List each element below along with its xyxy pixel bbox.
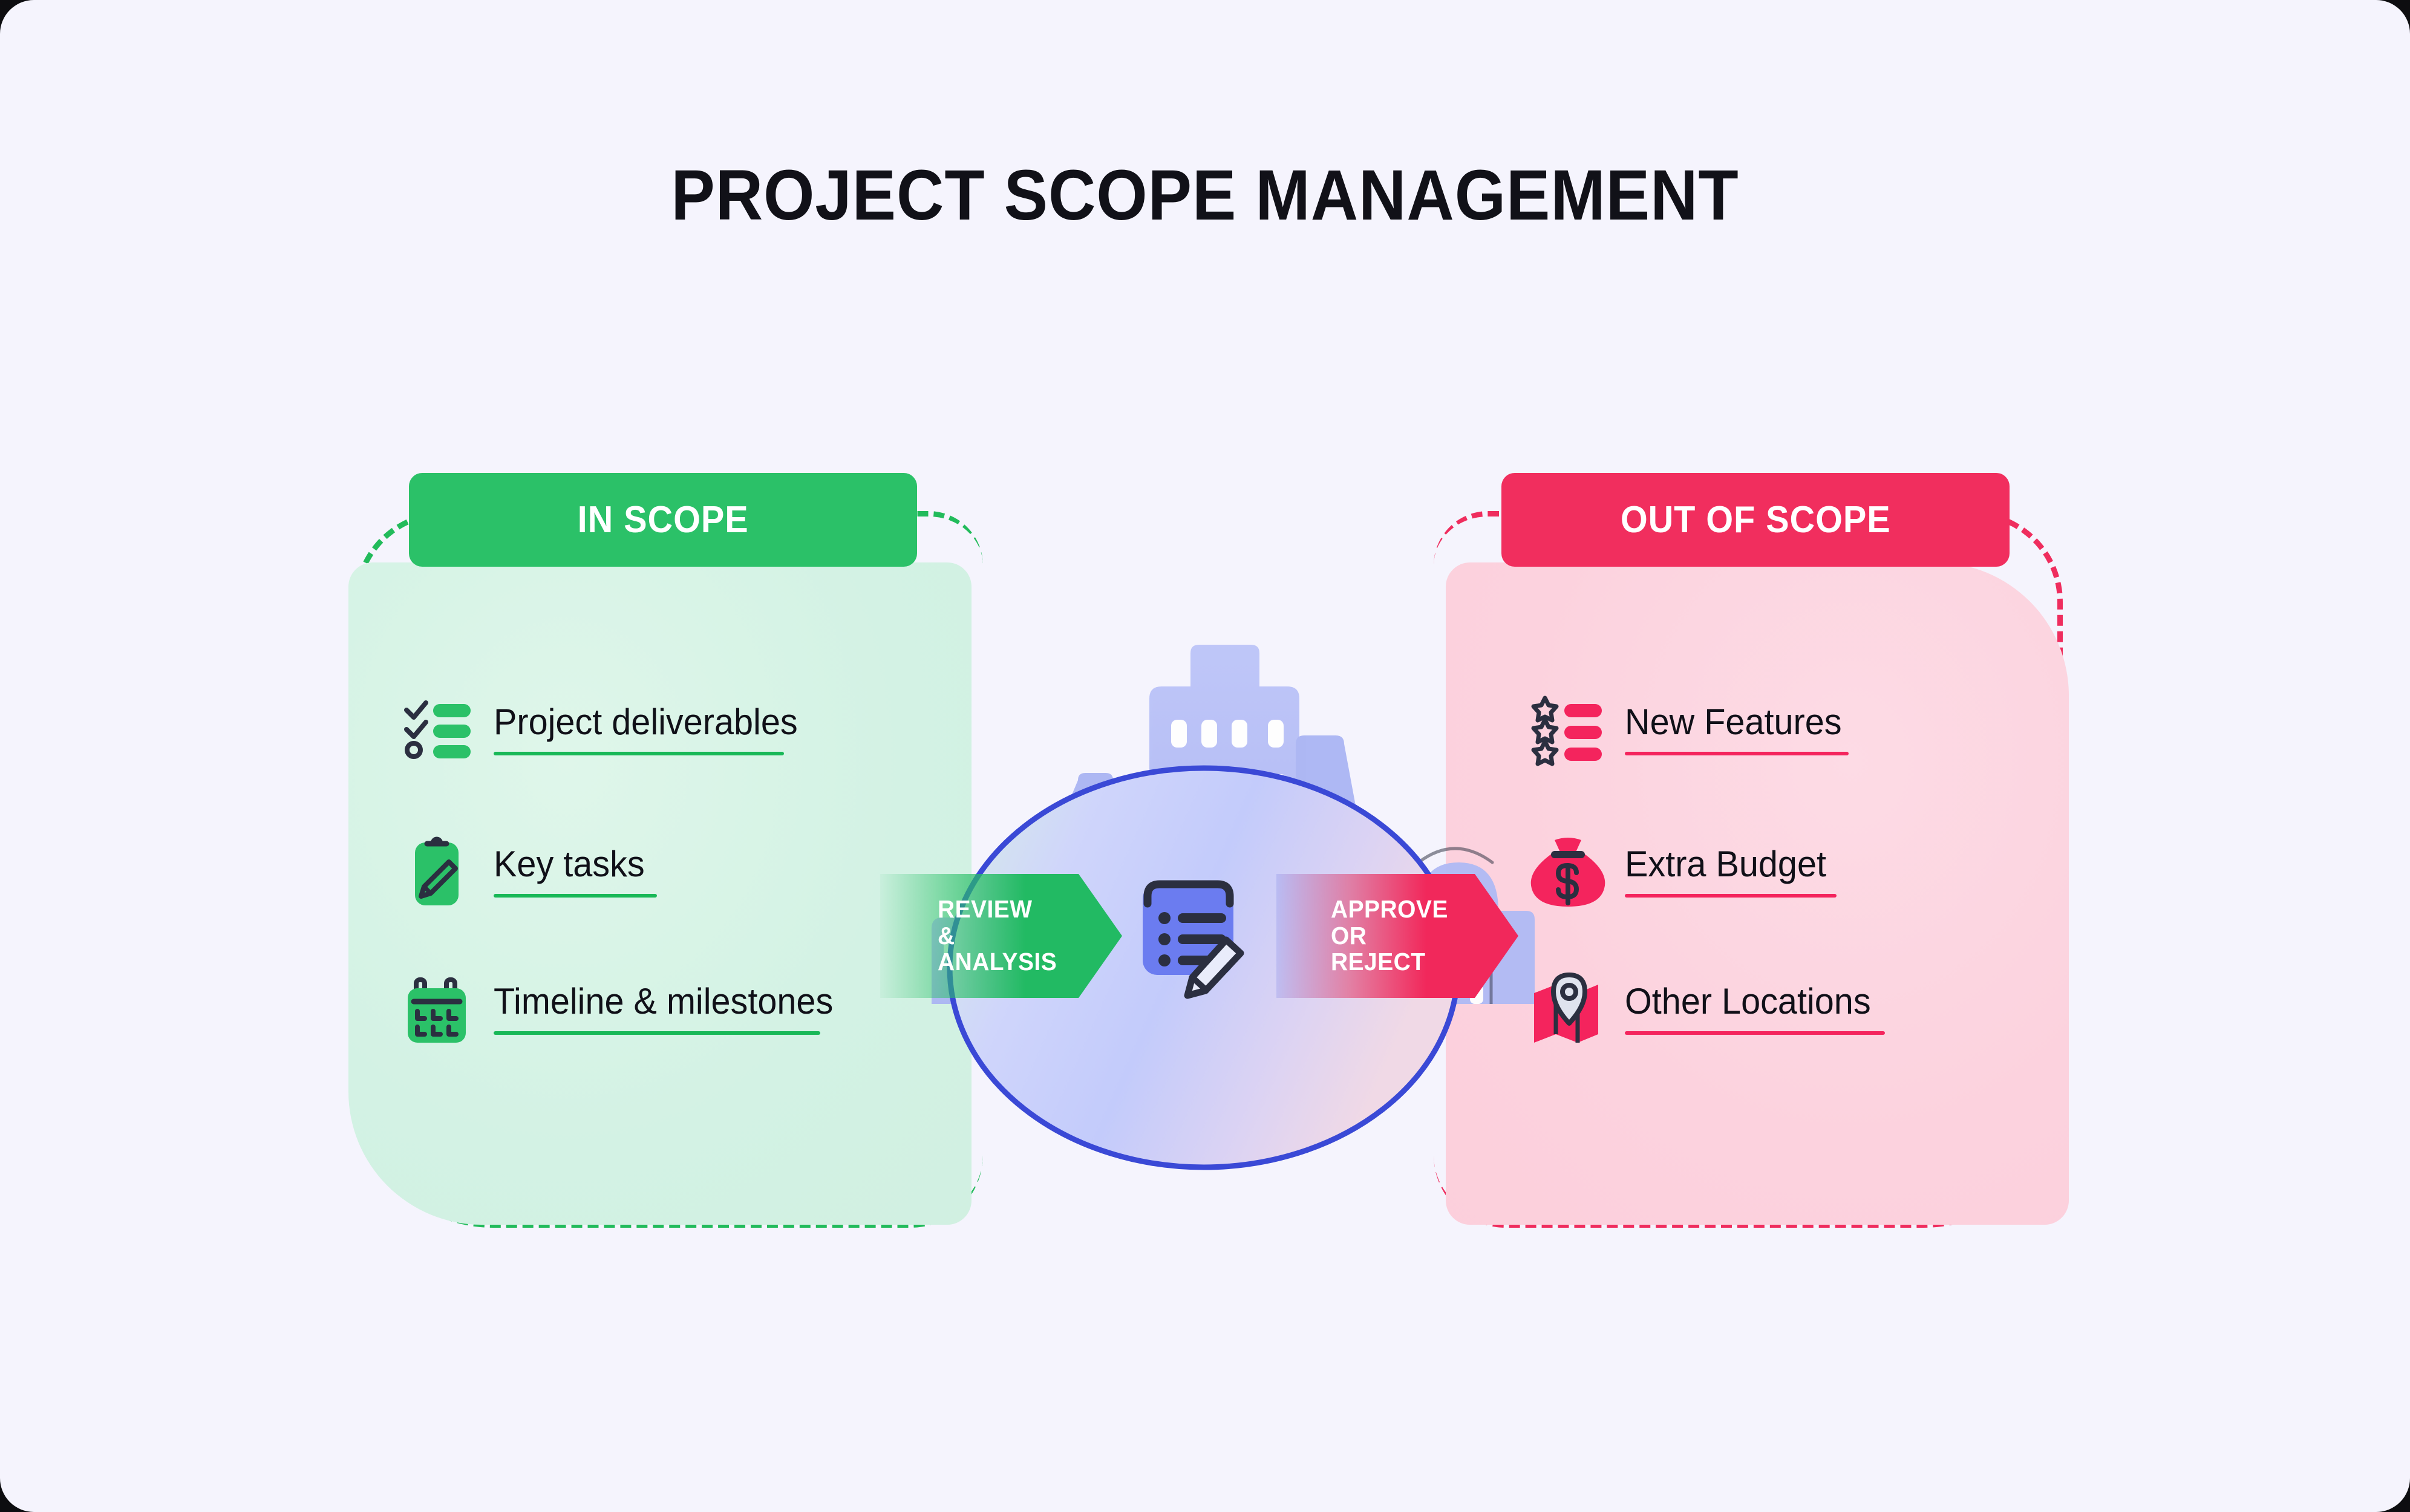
in-scope-item-label: Key tasks: [494, 845, 650, 883]
approve-reject-label: APPROVE OR REJECT: [1331, 896, 1448, 975]
out-of-scope-header-label: OUT OF SCOPE: [1621, 498, 1891, 541]
money-bag-icon: [1529, 832, 1608, 910]
item-underline: [1625, 752, 1849, 755]
out-of-scope-list-item[interactable]: Extra Budget: [1529, 832, 1837, 910]
out-of-scope-item-label: New Features: [1625, 703, 1842, 741]
diagram-canvas: PROJECT SCOPE MANAGEMENT: [0, 0, 2410, 1512]
in-scope-list-item[interactable]: Project deliverables: [398, 689, 811, 768]
document-list-pencil-icon: [1134, 871, 1267, 1001]
out-of-scope-list-item[interactable]: New Features: [1529, 689, 1850, 768]
out-of-scope-item-label: Other Locations: [1625, 982, 1875, 1020]
in-scope-header-label: IN SCOPE: [577, 498, 748, 541]
approve-reject-arrow[interactable]: APPROVE OR REJECT: [1276, 874, 1518, 998]
item-underline: [1625, 894, 1837, 898]
out-of-scope-header-chip[interactable]: OUT OF SCOPE: [1501, 473, 2010, 567]
in-scope-list-item[interactable]: Key tasks: [398, 832, 657, 910]
review-analysis-arrow[interactable]: REVIEW & ANALYSIS: [880, 874, 1122, 998]
item-underline: [494, 752, 784, 755]
checklist-icon: [398, 689, 477, 768]
review-analysis-label: REVIEW & ANALYSIS: [938, 896, 1057, 975]
out-of-scope-list-item[interactable]: Other Locations: [1529, 969, 1885, 1048]
item-underline: [1625, 1031, 1885, 1035]
star-list-icon: [1529, 689, 1608, 768]
in-scope-header-chip[interactable]: IN SCOPE: [409, 473, 917, 567]
map-pin-icon: [1529, 969, 1608, 1048]
out-of-scope-item-label: Extra Budget: [1625, 845, 1828, 883]
clipboard-pencil-icon: [398, 832, 477, 910]
page-title: PROJECT SCOPE MANAGEMENT: [96, 154, 2313, 236]
in-scope-list-item[interactable]: Timeline & milestones: [398, 969, 847, 1048]
in-scope-item-label: Timeline & milestones: [494, 982, 833, 1020]
item-underline: [494, 1031, 820, 1035]
in-scope-item-label: Project deliverables: [494, 703, 798, 741]
item-underline: [494, 894, 657, 898]
calendar-icon: [398, 969, 477, 1048]
